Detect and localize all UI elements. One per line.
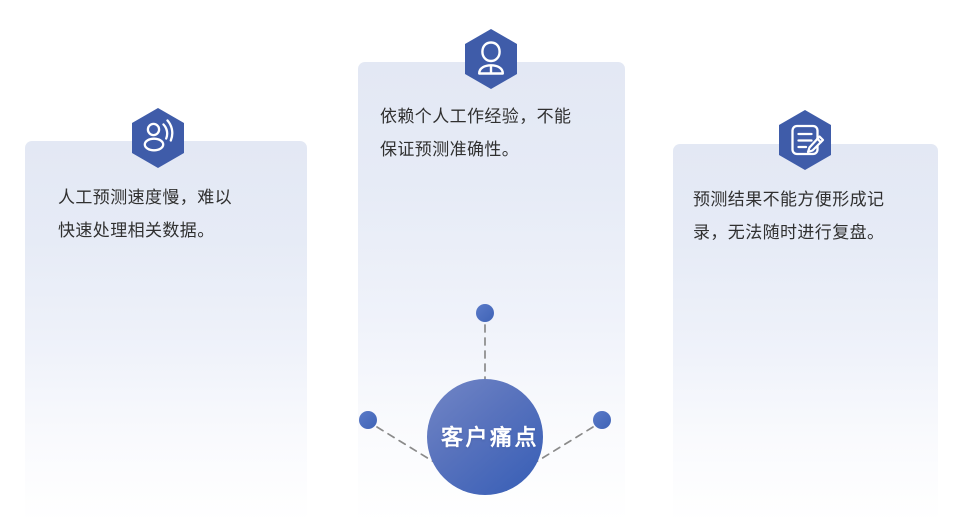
- customer-pain-point-hub-graph: [330, 295, 650, 522]
- pain-point-card-3[interactable]: 预测结果不能方便形成记 录，无法随时进行复盘。: [673, 144, 938, 522]
- pain-point-card-3-text: 预测结果不能方便形成记 录，无法随时进行复盘。: [673, 183, 938, 249]
- document-edit-icon: [779, 110, 831, 170]
- pain-point-card-1[interactable]: 人工预测速度慢，难以 快速处理相关数据。: [25, 141, 307, 522]
- hub-circle: [427, 379, 543, 495]
- user-avatar-icon: [465, 29, 517, 89]
- pain-point-card-1-text: 人工预测速度慢，难以 快速处理相关数据。: [25, 181, 307, 247]
- connector-left-dot: [359, 411, 377, 429]
- people-speed-icon: [132, 108, 184, 168]
- pain-point-card-2-text: 依赖个人工作经验，不能 保证预测准确性。: [358, 100, 625, 166]
- infographic-canvas: 人工预测速度慢，难以 快速处理相关数据。 依赖个人工作经验，不能 保证预测准确性…: [0, 0, 969, 522]
- connector-top-dot: [476, 304, 494, 322]
- connector-right-line: [536, 427, 593, 462]
- connector-left-line: [377, 427, 434, 462]
- connector-right-dot: [593, 411, 611, 429]
